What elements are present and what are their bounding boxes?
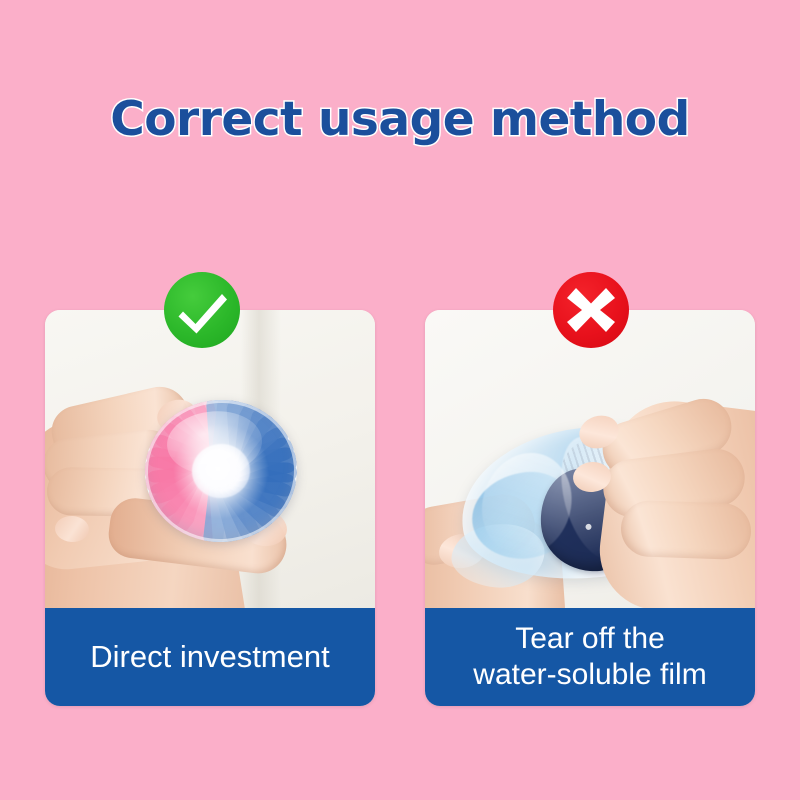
caption-line: Direct investment — [90, 639, 329, 675]
right-hand-ring-finger — [620, 500, 752, 561]
panel-wrong: Tear off thewater-soluble film — [425, 310, 755, 706]
panel-correct: Direct investment — [45, 310, 375, 706]
caption-correct-lines: Direct investment — [80, 639, 339, 675]
usage-method-infographic: Correct usage method Direct investment — [0, 0, 800, 800]
check-circle-icon — [164, 272, 240, 348]
cross-circle-icon — [553, 272, 629, 348]
page-title: Correct usage method — [0, 92, 800, 148]
caption-line: water-soluble film — [473, 657, 706, 693]
caption-tear-off-film: Tear off thewater-soluble film — [425, 608, 755, 706]
caption-direct-investment: Direct investment — [45, 608, 375, 706]
caption-wrong-lines: Tear off thewater-soluble film — [463, 621, 716, 693]
photo-tear-off-film — [425, 310, 755, 610]
caption-line: Tear off the — [473, 621, 706, 657]
photo-direct-investment — [45, 310, 375, 610]
